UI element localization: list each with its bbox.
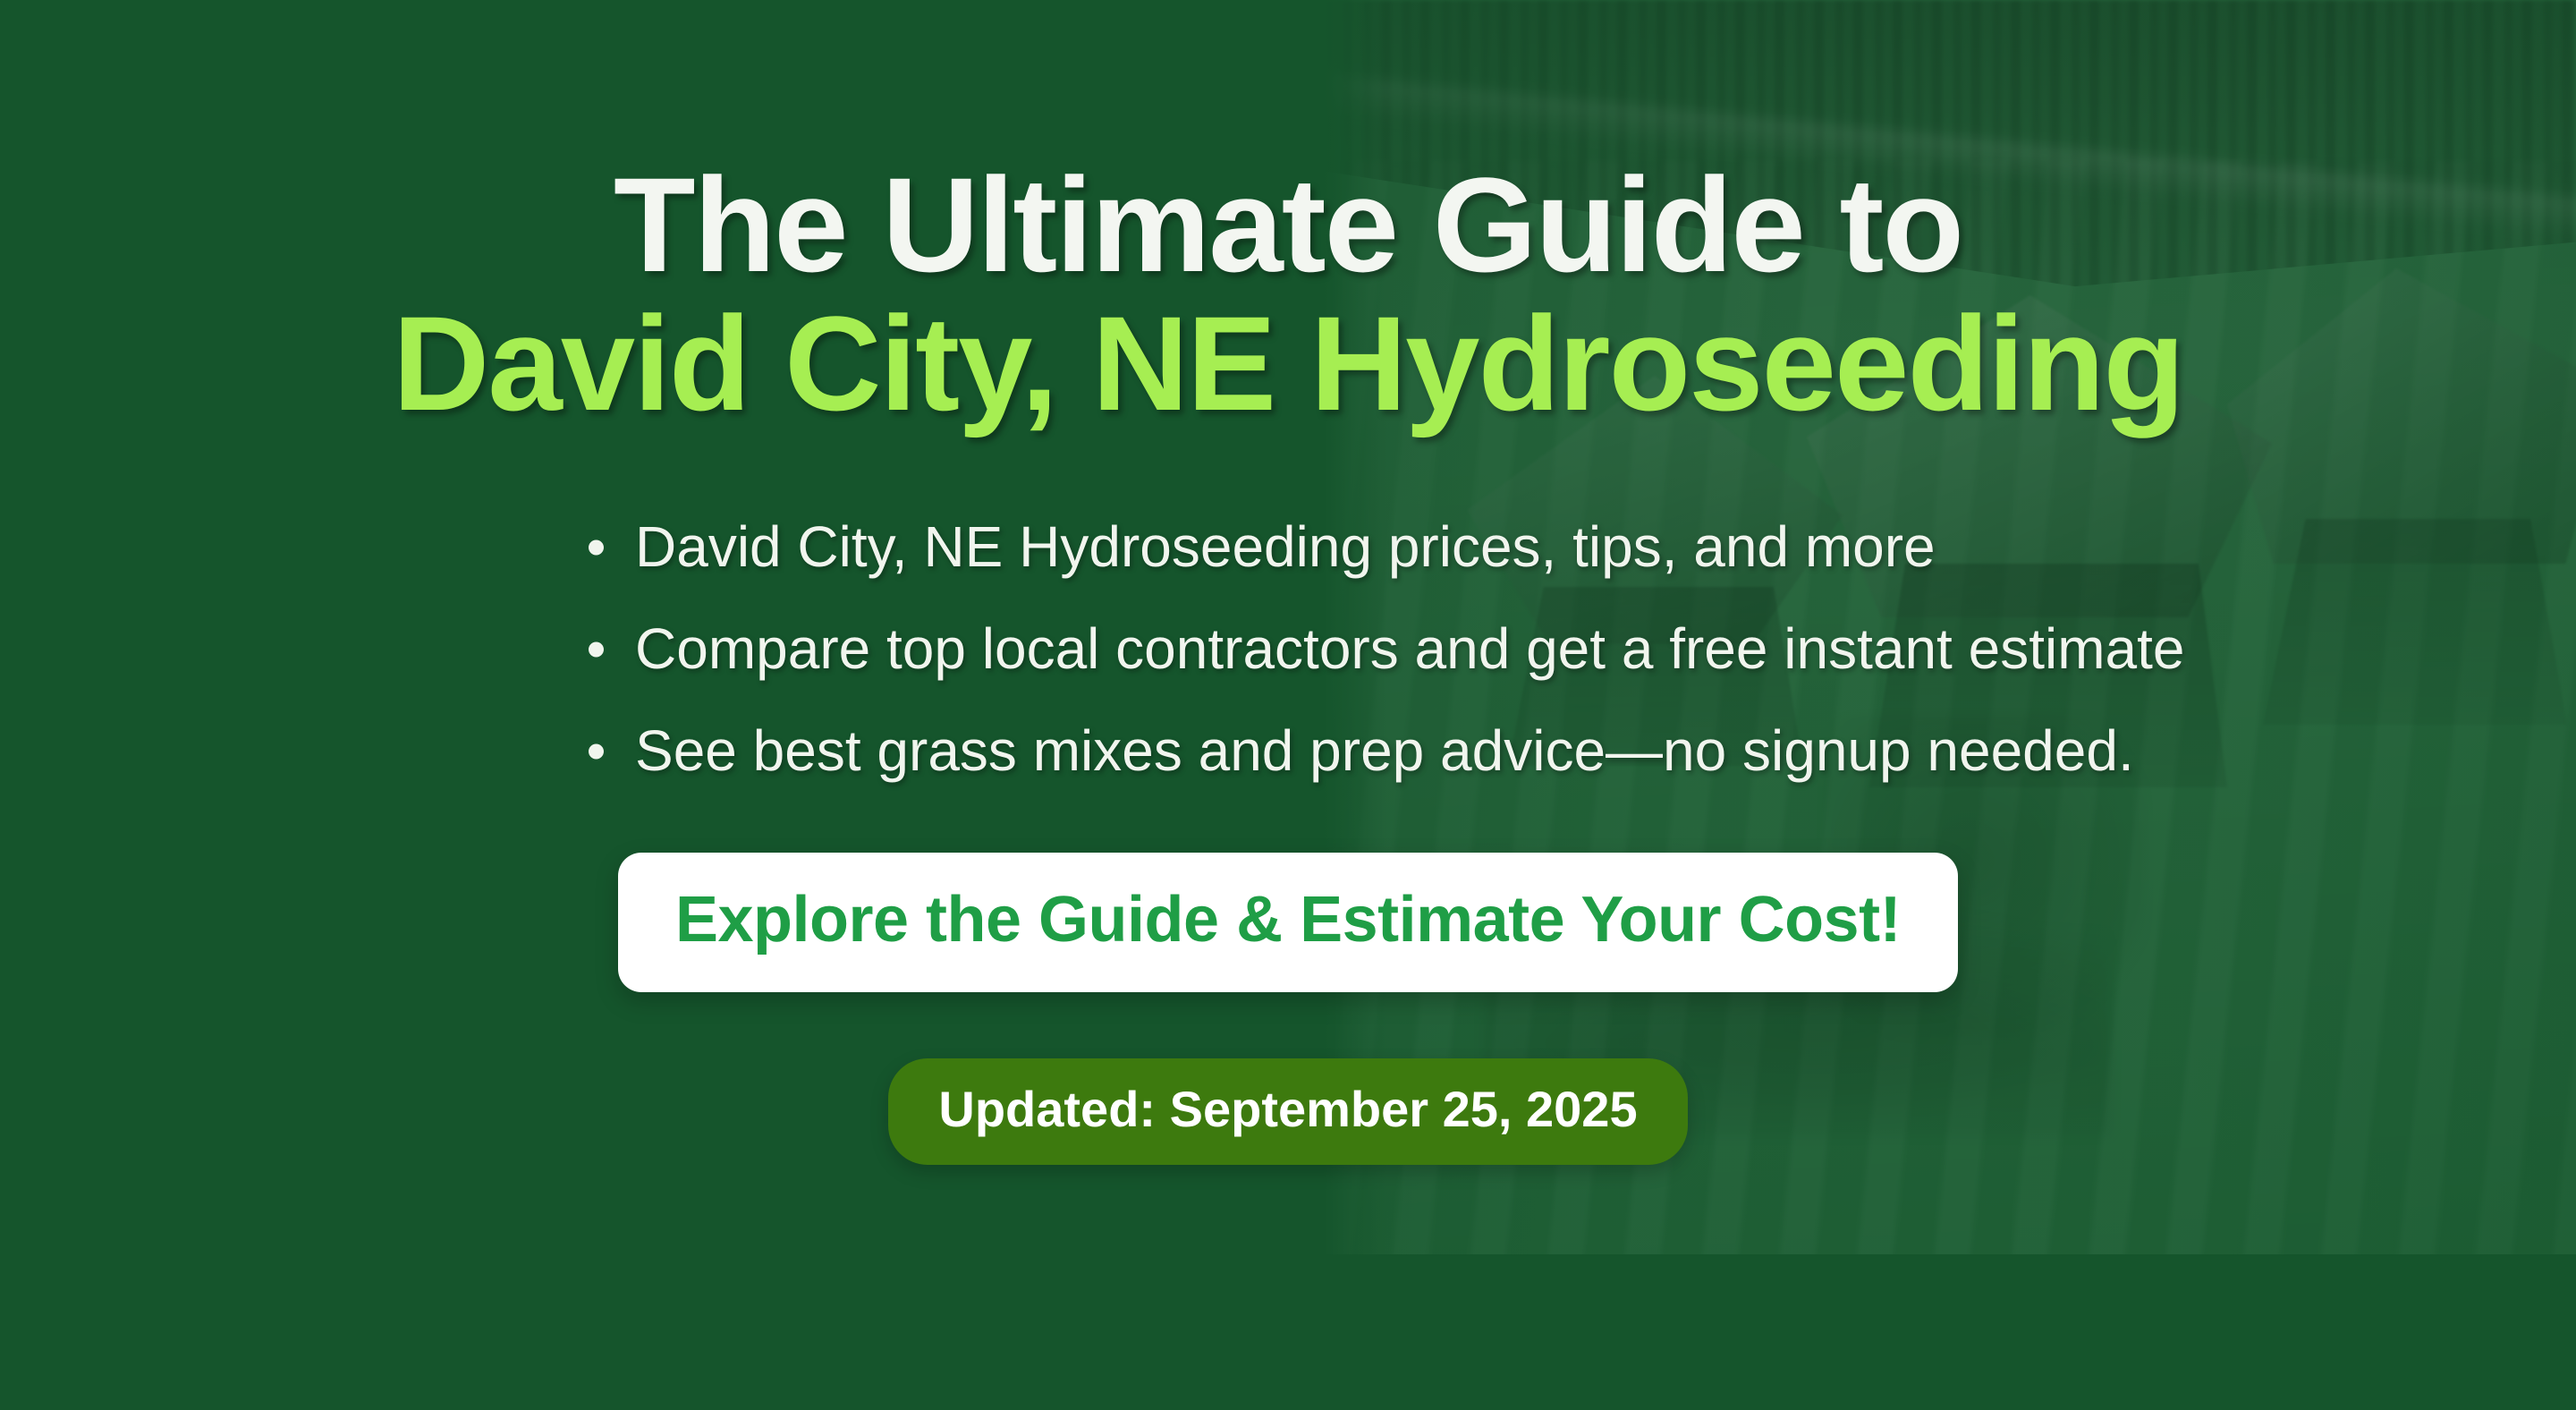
bullet-dot-icon [589, 641, 604, 657]
list-item-label: David City, NE Hydroseeding prices, tips… [635, 514, 1936, 579]
updated-date-badge: Updated: September 25, 2025 [888, 1058, 1687, 1165]
benefit-list: David City, NE Hydroseeding prices, tips… [304, 497, 2272, 803]
list-item-label: See best grass mixes and prep advice—no … [635, 718, 2134, 783]
list-item-label: Compare top local contractors and get a … [635, 616, 2184, 681]
bullet-dot-icon [589, 743, 604, 759]
list-item: See best grass mixes and prep advice—no … [635, 701, 2272, 803]
page-title: The Ultimate Guide to David City, NE Hyd… [393, 156, 2183, 432]
list-item: David City, NE Hydroseeding prices, tips… [635, 497, 2272, 599]
banner-content: The Ultimate Guide to David City, NE Hyd… [0, 0, 2576, 1410]
bullet-dot-icon [589, 539, 604, 555]
list-item: Compare top local contractors and get a … [635, 599, 2272, 701]
headline-line-1: The Ultimate Guide to [393, 156, 2183, 294]
headline-line-2: David City, NE Hydroseeding [393, 294, 2183, 433]
explore-guide-cta-button[interactable]: Explore the Guide & Estimate Your Cost! [618, 853, 1958, 992]
